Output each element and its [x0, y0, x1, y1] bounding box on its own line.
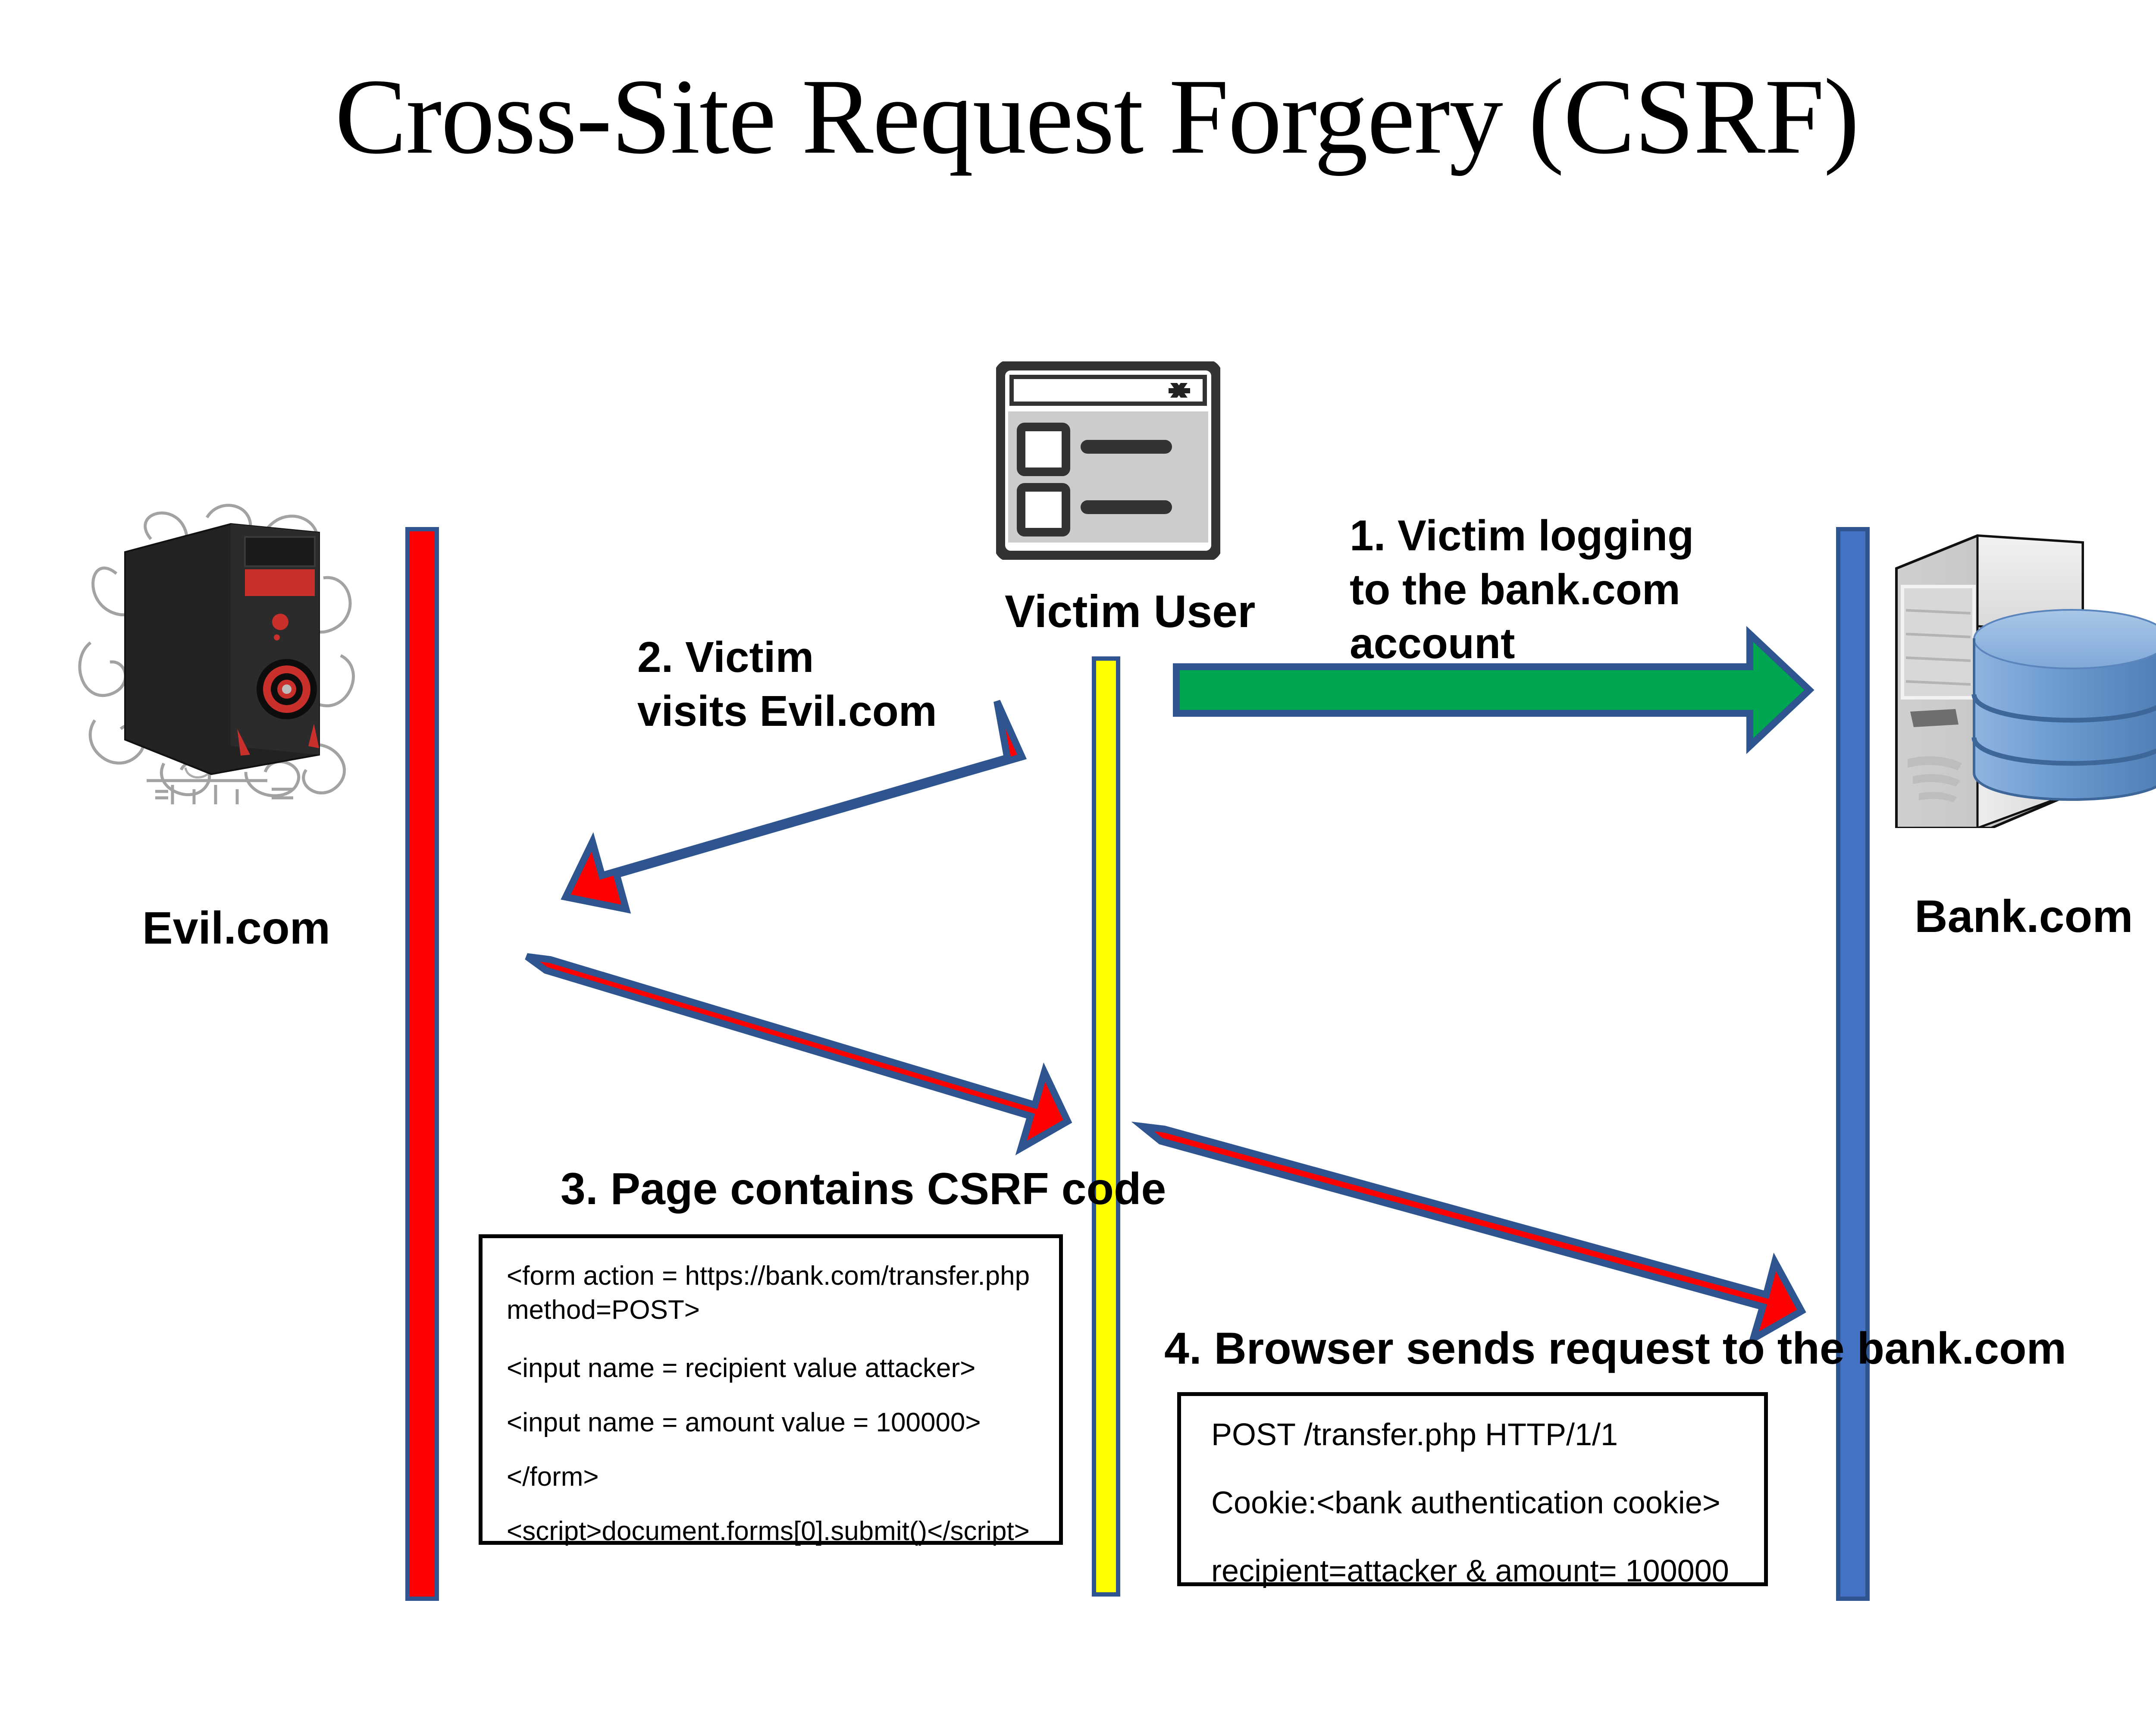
- lifeline-victim-user: [1092, 656, 1120, 1597]
- csrf-code-line: <input name = amount value = 100000>: [507, 1409, 1035, 1436]
- page-title: Cross-Site Request Forgery (CSRF): [0, 60, 2156, 174]
- node-label-evil: Evil.com: [142, 902, 330, 954]
- http-request-line: POST /transfer.php HTTP/1/1: [1211, 1419, 1734, 1450]
- evil-computer-icon: [65, 487, 367, 806]
- browser-window-icon: [996, 361, 1220, 560]
- arrow-step-4: [1143, 1126, 1802, 1339]
- step-1-label: 1. Victim logging to the bank.com accoun…: [1350, 509, 1694, 671]
- http-request-line: Cookie:<bank authentication cookie>: [1211, 1487, 1734, 1518]
- node-label-victim-user: Victim User: [1005, 586, 1255, 638]
- step-2-label: 2. Victim visits Evil.com: [637, 631, 937, 738]
- node-label-bank: Bank.com: [1915, 891, 2133, 943]
- http-request-line: recipient=attacker & amount= 100000: [1211, 1556, 1734, 1587]
- arrow-overlay: [0, 0, 2156, 1713]
- step-4-label: 4. Browser sends request to the bank.com: [1164, 1321, 2066, 1377]
- lifeline-evil: [405, 527, 439, 1601]
- csrf-diagram-canvas: Cross-Site Request Forgery (CSRF): [0, 0, 2156, 1713]
- arrow-step-3: [527, 957, 1068, 1148]
- csrf-code-line-script-tail: ipt>: [986, 1516, 1030, 1546]
- csrf-code-line-script: <script>document.forms[0].submit()</scr: [507, 1516, 986, 1546]
- csrf-code-line: <form action = https://bank.com/transfer…: [507, 1259, 1035, 1327]
- csrf-code-line: <input name = recipient value attacker>: [507, 1355, 1035, 1382]
- database-server-icon: [1893, 530, 2156, 828]
- lifeline-bank: [1836, 527, 1870, 1601]
- database-cylinder: [1974, 610, 2156, 800]
- csrf-code-line: </form>: [507, 1464, 1035, 1490]
- http-request-box: POST /transfer.php HTTP/1/1 Cookie:<bank…: [1177, 1392, 1768, 1586]
- csrf-code-box: <form action = https://bank.com/transfer…: [479, 1234, 1063, 1545]
- step-3-label: 3. Page contains CSRF code: [561, 1161, 1166, 1217]
- csrf-code-line: <script>document.forms[0].submit()</scri…: [507, 1518, 1035, 1545]
